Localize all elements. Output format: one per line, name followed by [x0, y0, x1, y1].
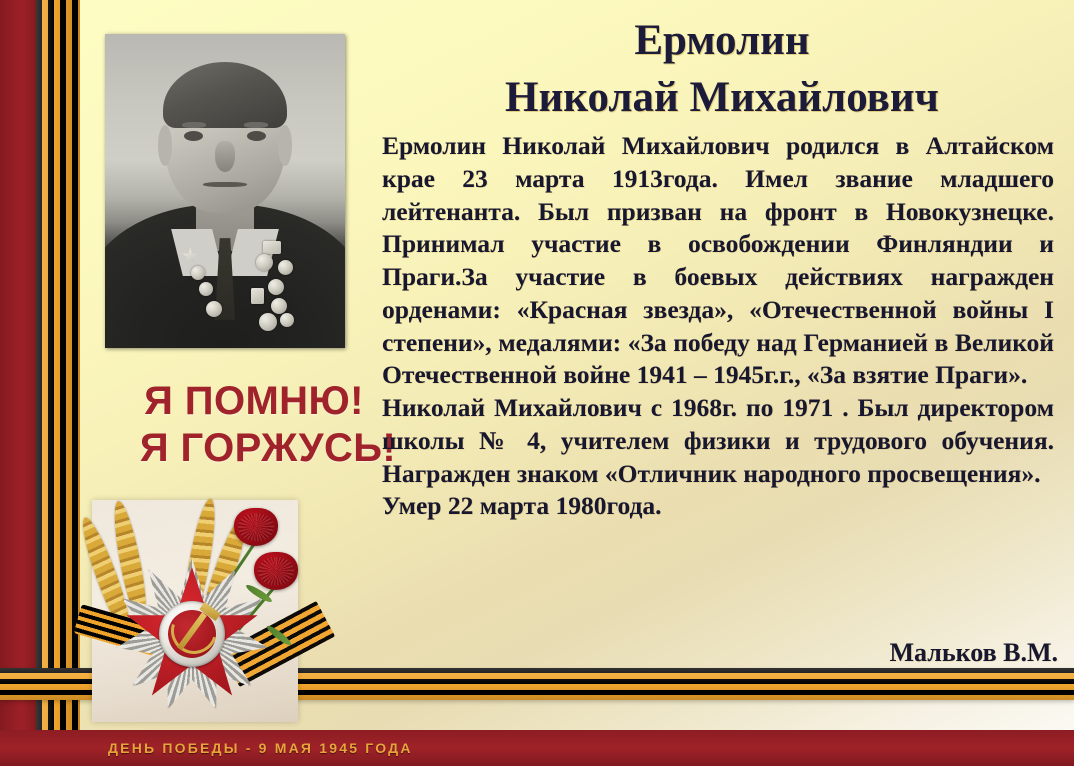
medal-round-icon [278, 260, 293, 275]
medal-round-icon [268, 279, 284, 295]
order-of-patriotic-war-icon: ОТЕЧЕСТВЕННАЯ ВОЙНА [116, 558, 268, 710]
biography-paragraph-1: Ермолин Николай Михайлович родился в Алт… [382, 130, 1054, 392]
medal-round-icon [206, 301, 222, 317]
slogan-line-2: Я ГОРЖУСЬ! [104, 425, 404, 472]
victory-day-caption: ДЕНЬ ПОБЕДЫ - 9 МАЯ 1945 ГОДА [108, 740, 413, 756]
slogan-line-1: Я ПОМНЮ! [104, 378, 404, 425]
author-signature: Мальков В.М. [382, 638, 1058, 668]
title-surname: Ермолин [380, 12, 1064, 69]
biography-paragraph-2: Николай Михайлович с 1968г. по 1971 . Бы… [382, 392, 1054, 490]
medal-round-icon [271, 298, 287, 314]
remembrance-slogan: Я ПОМНЮ! Я ГОРЖУСЬ! [104, 378, 404, 472]
victory-emblem: ОТЕЧЕСТВЕННАЯ ВОЙНА [58, 494, 308, 744]
medal-round-icon [256, 254, 273, 271]
medal-round-icon [199, 282, 213, 296]
page-title: Ермолин Николай Михайлович [380, 12, 1064, 126]
medal-round-icon [259, 313, 277, 331]
title-given-patronymic: Николай Михайлович [380, 69, 1064, 126]
medal-round-icon [280, 313, 294, 327]
medal-star-icon [182, 248, 199, 265]
photo-medal-group [105, 34, 345, 348]
left-red-frame [0, 0, 40, 766]
biography-text: Ермолин Николай Михайлович родился в Алт… [382, 130, 1054, 523]
medal-bar-icon [263, 241, 281, 254]
red-carnation-icon [234, 508, 278, 546]
veteran-photo [105, 34, 345, 348]
medal-bar-icon [251, 288, 264, 304]
biography-paragraph-3: Умер 22 марта 1980года. [382, 490, 1054, 523]
medal-round-icon [191, 266, 205, 280]
memorial-card: Я ПОМНЮ! Я ГОРЖУСЬ! ОТЕЧЕСТВЕННАЯ ВОЙНА [0, 0, 1074, 766]
